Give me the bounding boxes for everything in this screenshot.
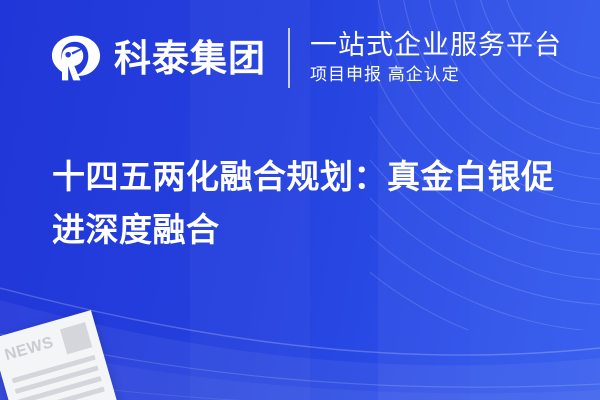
tagline-group: 一站式企业服务平台 项目申报 高企认定: [310, 30, 562, 85]
tagline-sub: 项目申报 高企认定: [310, 64, 562, 86]
ketai-circle-r-logo-icon: [48, 30, 104, 86]
news-card-label: NEWS: [3, 335, 55, 364]
header-divider: [288, 28, 290, 88]
news-card-thumbnail-icon: [60, 322, 92, 354]
banner-header: 科泰集团 一站式企业服务平台 项目申报 高企认定: [48, 26, 562, 90]
tagline-main: 一站式企业服务平台: [310, 30, 562, 60]
promo-banner: 科泰集团 一站式企业服务平台 项目申报 高企认定 十四五两化融合规划：真金白银促…: [0, 0, 600, 400]
brand-name: 科泰集团: [114, 40, 266, 77]
page-title: 十四五两化融合规划：真金白银促进深度融合: [52, 150, 557, 257]
